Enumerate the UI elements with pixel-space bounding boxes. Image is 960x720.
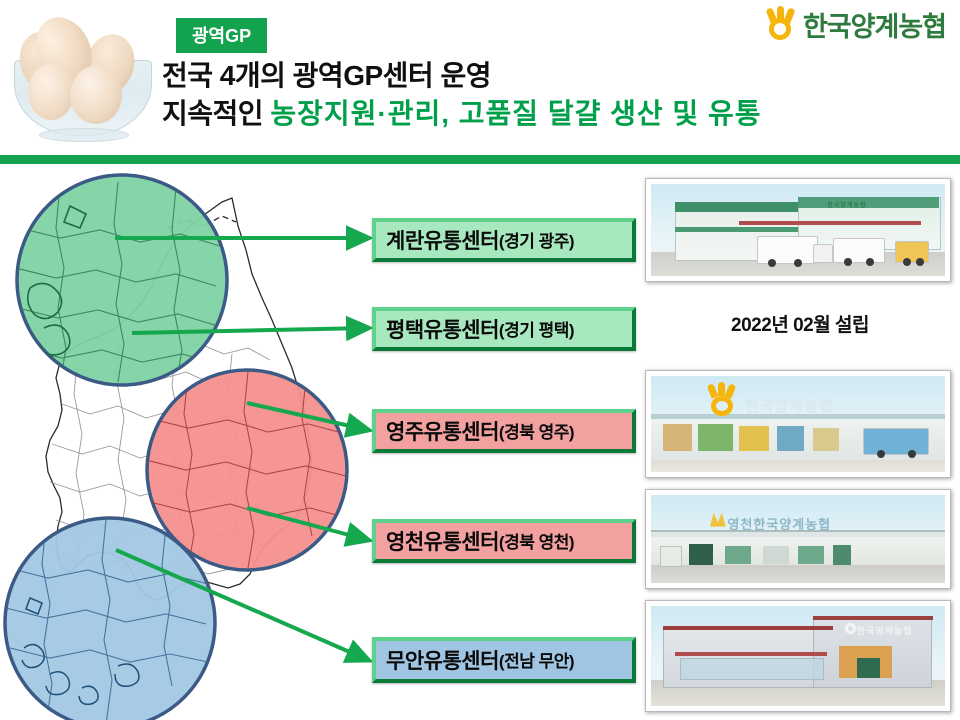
photo-muan-center: 한국양계농협: [645, 600, 951, 712]
center-location: (경기 평택): [499, 316, 574, 341]
center-name: 무안유통센터: [386, 645, 499, 675]
establishment-note: 2022년 02월 설립: [690, 310, 910, 337]
center-label-yeongju[interactable]: 영주유통센터(경북 영주): [372, 409, 636, 453]
korea-map: [0, 168, 380, 720]
center-location: (경북 영주): [499, 418, 574, 443]
section-tag-badge: 광역GP: [176, 18, 267, 53]
egg: [28, 64, 74, 120]
region-circle-green: [16, 175, 227, 385]
photo-yeongju-center: 한국양계농협: [645, 370, 951, 478]
logo-wordmark: 한국양계농협: [803, 5, 946, 44]
eggs-in-bowl-image: [8, 2, 156, 138]
center-label-yeongcheon[interactable]: 영천유통센터(경북 영천): [372, 519, 636, 563]
page-title-line2-plain: 지속적인: [162, 98, 270, 129]
center-location: (경북 영천): [499, 528, 574, 553]
center-location: (경기 광주): [499, 227, 574, 252]
header-divider-bar: [0, 155, 960, 164]
photo-yeongcheon-center: 영천한국양계농협: [645, 489, 951, 589]
page-title-line1: 전국 4개의 광역GP센터 운영: [162, 54, 491, 94]
slide-header: 광역GP 전국 4개의 광역GP센터 운영 지속적인 농장지원·관리, 고품질 …: [0, 0, 960, 155]
photo-gwangju-center: 한국양계농협: [645, 178, 951, 282]
center-label-gwangju[interactable]: 계란유통센터(경기 광주): [372, 218, 636, 262]
center-name: 평택유통센터: [386, 314, 499, 344]
center-label-muan[interactable]: 무안유통센터(전남 무안): [372, 637, 636, 683]
center-name: 영천유통센터: [386, 526, 499, 556]
center-name: 영주유통센터: [386, 416, 499, 446]
korea-map-svg: [0, 168, 380, 720]
region-circle-blue: [5, 518, 215, 720]
page-title-line2: 지속적인 농장지원·관리, 고품질 달걀 생산 및 유통: [162, 92, 762, 132]
cow-horn-ring-icon: [766, 8, 796, 40]
center-name: 계란유통센터: [386, 225, 499, 255]
page-title-line2-highlight: 농장지원·관리, 고품질 달걀 생산 및 유통: [270, 98, 761, 129]
organization-logo: 한국양계농협: [766, 4, 946, 44]
egg: [70, 66, 122, 124]
center-location: (전남 무안): [499, 647, 574, 672]
center-label-pyeongtaek[interactable]: 평택유통센터(경기 평택): [372, 307, 636, 351]
